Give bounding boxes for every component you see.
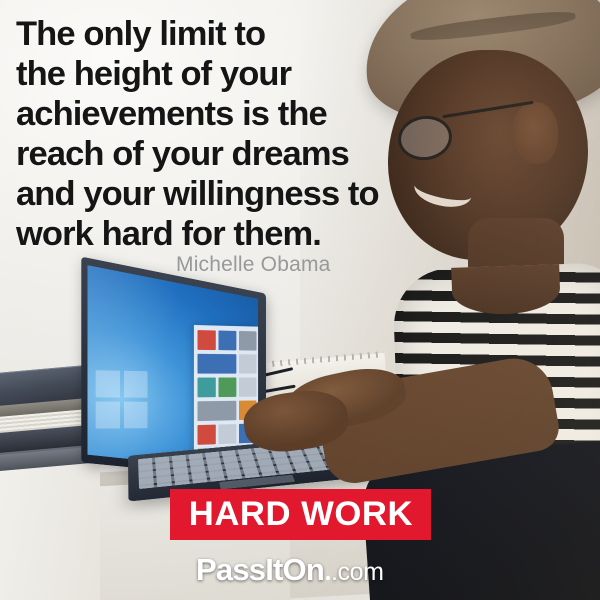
tile-icon [198, 330, 216, 350]
quote-line: reach of your dreams [16, 134, 416, 174]
tile-row [198, 354, 257, 374]
topic-banner: HARD WORK [170, 489, 431, 540]
laptop-screen [87, 265, 258, 472]
tile-icon [198, 401, 237, 421]
tile-icon [239, 331, 256, 351]
quote-poster: The only limit to the height of your ach… [0, 0, 600, 600]
tile-row [198, 330, 257, 351]
logo-trademark-dot [326, 576, 330, 580]
tile-icon [239, 377, 256, 396]
quote-line: and your willingness to [16, 174, 416, 214]
logo-tld-text: .com [331, 558, 384, 587]
quote-line: achievements is the [16, 94, 416, 134]
quote-author: Michelle Obama [176, 253, 331, 277]
tile-icon [239, 354, 256, 373]
quote-text: The only limit to the height of your ach… [16, 14, 416, 254]
tile-icon [218, 331, 236, 351]
tile-row [198, 377, 257, 397]
quote-line: work hard for them. [16, 214, 416, 254]
tile-icon [198, 354, 237, 374]
tile-icon [218, 424, 236, 444]
tile-icon [198, 425, 216, 445]
windows-logo-icon [96, 370, 148, 430]
quote-line: The only limit to [16, 14, 416, 54]
topic-banner-label: HARD WORK [188, 495, 412, 534]
passiton-logo[interactable]: PassItOn .com [196, 552, 384, 588]
logo-brand-text: PassItOn [196, 552, 324, 588]
tile-icon [198, 378, 216, 398]
quote-line: the height of your [16, 54, 416, 94]
tile-icon [218, 377, 236, 397]
ear [512, 102, 558, 164]
